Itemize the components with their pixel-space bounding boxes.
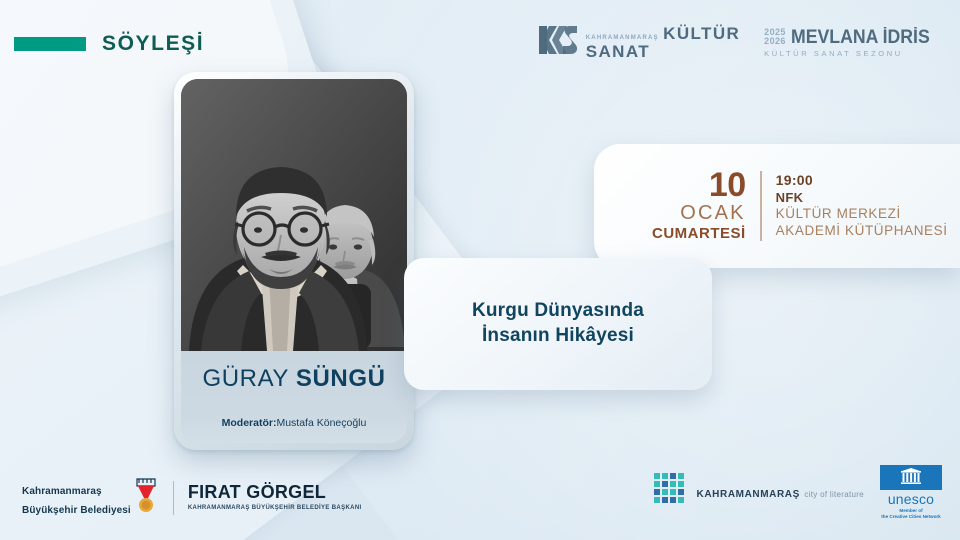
kicker-label: SÖYLEŞİ — [102, 32, 204, 56]
municipality-line-1: Kahramanmaraş — [22, 486, 102, 497]
footer-left-logos: Kahramanmaraş Büyükşehir Belediyesi FIRA… — [22, 477, 362, 518]
header-logos: KAHRAMANMARAŞ KÜLTÜR SANAT 2025 2026 MEV… — [537, 24, 940, 61]
unesco-logo: unesco Member of the Creative Cities Net… — [880, 465, 942, 520]
event-title-line-2: İnsanın Hikâyesi — [472, 324, 644, 349]
kks-eyebrow: KAHRAMANMARAŞ — [586, 35, 659, 41]
venue-block: 19:00 NFK KÜLTÜR MERKEZİ AKADEMİ KÜTÜPHA… — [762, 172, 948, 240]
city-of-literature-line-2: city of literature — [804, 490, 864, 499]
unesco-subtitle: Member of the Creative Cities Network — [880, 508, 942, 520]
mayor-name: FIRAT GÖRGEL — [188, 483, 362, 503]
moderator-label: Moderatör: — [222, 417, 277, 429]
poster-stage: SÖYLEŞİ KAHRAMANMARAŞ KÜLTÜR SANAT — [0, 0, 960, 540]
event-title: Kurgu Dünyasında İnsanın Hikâyesi — [472, 299, 644, 348]
season-subtitle: KÜLTÜR SANAT SEZONU — [764, 50, 940, 58]
event-month: OCAK — [652, 202, 746, 225]
event-weekday: CUMARTESİ — [652, 225, 746, 243]
speaker-name: GÜRAY SÜNGÜ — [193, 365, 395, 393]
season-years: 2025 2026 — [764, 28, 786, 47]
unesco-subtitle-line-2: the Creative Cities Network — [881, 514, 940, 519]
unesco-wordmark: unesco — [880, 492, 942, 506]
mayor-block: FIRAT GÖRGEL KAHRAMANMARAŞ BÜYÜKŞEHİR BE… — [188, 483, 362, 511]
city-of-literature-text: KAHRAMANMARAŞ city of literature — [697, 483, 864, 502]
city-of-literature-line-1: KAHRAMANMARAŞ — [697, 489, 800, 500]
speaker-last-name: SÜNGÜ — [296, 365, 386, 392]
season-logo-row: 2025 2026 MEVLANA İDRİS — [764, 28, 940, 47]
title-card: Kurgu Dünyasında İnsanın Hikâyesi — [404, 258, 712, 390]
kicker-bar-icon — [14, 37, 86, 51]
municipality-logo: Kahramanmaraş Büyükşehir Belediyesi — [22, 477, 159, 518]
speaker-card-inner: GÜRAY SÜNGÜ Moderatör:Mustafa Köneçoğlu — [181, 79, 407, 443]
medal-icon — [133, 477, 159, 518]
event-title-line-1: Kurgu Dünyasında — [472, 299, 644, 324]
season-logo: 2025 2026 MEVLANA İDRİS KÜLTÜR SANAT SEZ… — [764, 28, 940, 58]
kks-line-2: SANAT — [586, 42, 650, 61]
unesco-subtitle-line-1: Member of — [899, 508, 922, 513]
kks-logo: KAHRAMANMARAŞ KÜLTÜR SANAT — [537, 24, 740, 61]
city-of-literature-logo: KAHRAMANMARAŞ city of literature — [654, 473, 864, 512]
unesco-temple-icon — [880, 465, 942, 490]
mayor-role: KAHRAMANMARAŞ BÜYÜKŞEHİR BELEDİYE BAŞKAN… — [188, 505, 362, 512]
speaker-first-name: GÜRAY — [202, 365, 288, 392]
moderator-name: Mustafa Köneçoğlu — [276, 417, 366, 429]
season-name: MEVLANA İDRİS — [791, 28, 930, 47]
season-year-bottom: 2026 — [764, 37, 786, 46]
footer-divider — [173, 481, 174, 515]
municipality-logo-text: Kahramanmaraş Büyükşehir Belediyesi — [22, 481, 131, 518]
date-card-inner: 10 OCAK CUMARTESİ 19:00 NFK KÜLTÜR MERKE… — [594, 169, 948, 243]
speaker-portrait-photo — [181, 79, 407, 351]
pixel-blocks-icon — [654, 473, 688, 512]
date-card: 10 OCAK CUMARTESİ 19:00 NFK KÜLTÜR MERKE… — [594, 144, 960, 268]
event-time: 19:00 — [776, 172, 948, 190]
speaker-card: GÜRAY SÜNGÜ Moderatör:Mustafa Köneçoğlu — [174, 72, 414, 450]
kks-logo-text: KAHRAMANMARAŞ KÜLTÜR SANAT — [586, 25, 740, 61]
kicker: SÖYLEŞİ — [14, 32, 204, 56]
venue-line-3: AKADEMİ KÜTÜPHANESİ — [776, 223, 948, 240]
venue-line-2: KÜLTÜR MERKEZİ — [776, 206, 948, 223]
kks-monogram-icon — [537, 24, 579, 61]
moderator-line: Moderatör:Mustafa Köneçoğlu — [193, 417, 395, 429]
footer-right-logos: KAHRAMANMARAŞ city of literature — [654, 465, 942, 520]
event-day: 10 — [652, 169, 746, 202]
date-block: 10 OCAK CUMARTESİ — [652, 169, 760, 243]
kks-line-1: KÜLTÜR — [663, 24, 740, 43]
venue-line-1: NFK — [776, 190, 948, 206]
speaker-name-block: GÜRAY SÜNGÜ Moderatör:Mustafa Köneçoğlu — [181, 351, 407, 443]
municipality-line-2: Büyükşehir Belediyesi — [22, 505, 131, 516]
